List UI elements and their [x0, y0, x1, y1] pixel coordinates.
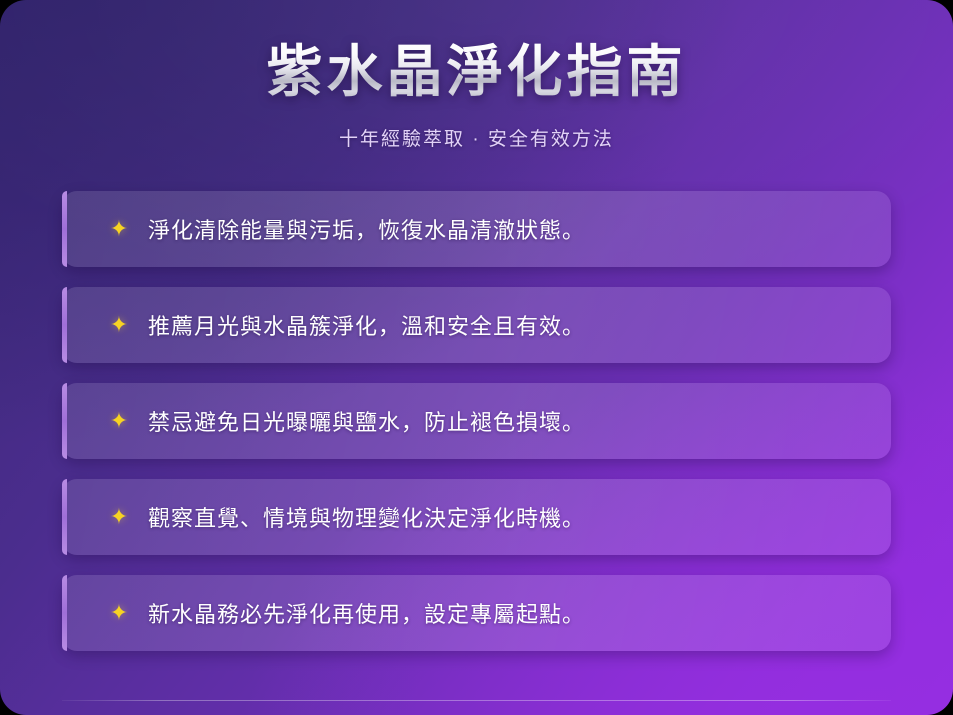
list-item-label: 禁忌避免日光曝曬與鹽水，防止褪色損壞。: [148, 405, 585, 437]
key-points-list: ✦ 淨化清除能量與污垢，恢復水晶清澈狀態。 ✦ 推薦月光與水晶簇淨化，溫和安全且…: [0, 151, 953, 651]
sparkle-star-icon: ✦: [106, 506, 132, 528]
list-item-label: 淨化清除能量與污垢，恢復水晶清澈狀態。: [148, 213, 585, 245]
list-item: ✦ 淨化清除能量與污垢，恢復水晶清澈狀態。: [62, 191, 891, 267]
sparkle-star-icon: ✦: [106, 602, 132, 624]
list-item-label: 推薦月光與水晶簇淨化，溫和安全且有效。: [148, 309, 585, 341]
list-item: ✦ 觀察直覺、情境與物理變化決定淨化時機。: [62, 479, 891, 555]
slide-subtitle: 十年經驗萃取 · 安全有效方法: [0, 124, 953, 151]
sparkle-star-icon: ✦: [106, 314, 132, 336]
sparkle-star-icon: ✦: [106, 218, 132, 240]
sparkle-star-icon: ✦: [106, 410, 132, 432]
list-item-label: 觀察直覺、情境與物理變化決定淨化時機。: [148, 501, 585, 533]
presentation-slide: 紫水晶淨化指南 十年經驗萃取 · 安全有效方法 ✦ 淨化清除能量與污垢，恢復水晶…: [0, 0, 953, 715]
list-item: ✦ 新水晶務必先淨化再使用，設定專屬起點。: [62, 575, 891, 651]
accent-bar: [62, 575, 67, 651]
footer-divider: [62, 700, 891, 701]
page-title: 紫水晶淨化指南: [0, 40, 953, 104]
accent-bar: [62, 287, 67, 363]
accent-bar: [62, 479, 67, 555]
list-item: ✦ 推薦月光與水晶簇淨化，溫和安全且有效。: [62, 287, 891, 363]
accent-bar: [62, 383, 67, 459]
accent-bar: [62, 191, 67, 267]
list-item-label: 新水晶務必先淨化再使用，設定專屬起點。: [148, 597, 585, 629]
list-item: ✦ 禁忌避免日光曝曬與鹽水，防止褪色損壞。: [62, 383, 891, 459]
slide-header: 紫水晶淨化指南 十年經驗萃取 · 安全有效方法: [0, 0, 953, 151]
